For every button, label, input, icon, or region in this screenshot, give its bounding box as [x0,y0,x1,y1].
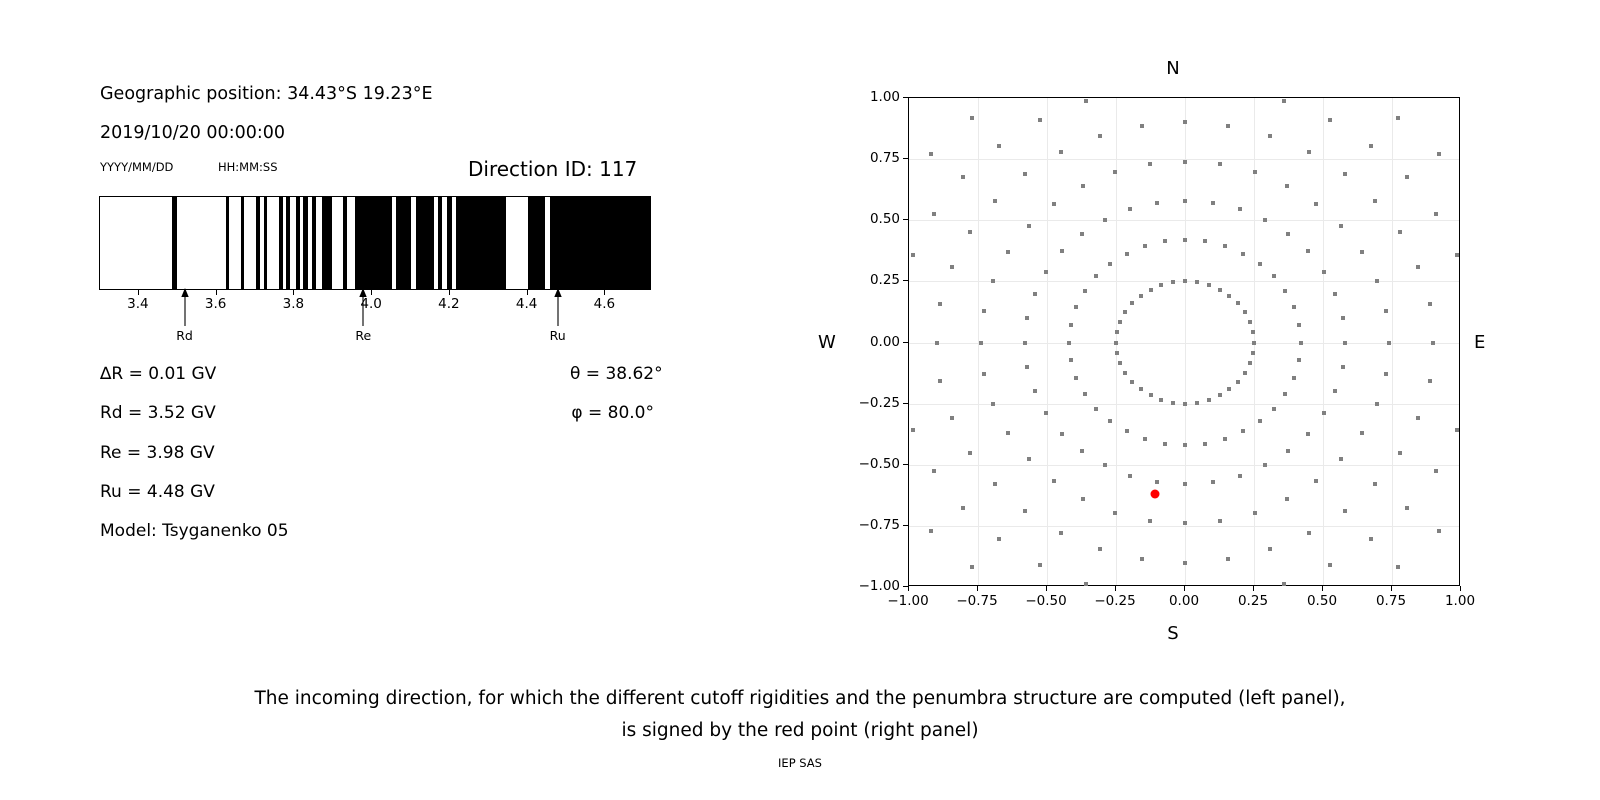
y-axis-tick [903,97,908,98]
direction-dot [1333,389,1337,393]
x-axis-tick-label: 4.2 [438,296,459,312]
x-axis-tick-label: −0.25 [1094,593,1135,609]
direction-dot [1080,449,1084,453]
x-axis-tick [371,290,372,295]
penumbra-band [303,197,307,289]
x-axis-tick-label: −0.50 [1025,593,1066,609]
x-axis-tick [977,586,978,591]
parameter-list-left: ∆R = 0.01 GVRd = 3.52 GVRe = 3.98 GVRu =… [100,355,289,551]
direction-dot [1434,212,1438,216]
direction-dot [1052,202,1056,206]
direction-dot [1341,365,1345,369]
direction-dot [1139,387,1143,391]
direction-dot [1038,563,1042,567]
direction-dot [1238,207,1242,211]
direction-dot [1268,547,1272,551]
direction-dot [1218,288,1222,292]
penumbra-band [312,197,316,289]
direction-dot [1125,429,1129,433]
direction-dot [1360,431,1364,435]
direction-dot [1118,320,1122,324]
direction-dot [1343,341,1347,345]
direction-dot [1103,218,1107,222]
direction-dot [1038,118,1042,122]
figure-caption: The incoming direction, for which the di… [0,683,1600,747]
direction-dot [1396,116,1400,120]
direction-dot [938,379,942,383]
y-axis-tick [903,464,908,465]
direction-dot [1067,341,1071,345]
direction-dot [1384,309,1388,313]
direction-dot [1084,99,1088,103]
parameter-list-right: θ = 38.62°φ = 80.0° [570,355,654,434]
penumbra-band [416,197,434,289]
direction-dot [1384,372,1388,376]
direction-dot [1416,416,1420,420]
direction-dot [1226,124,1230,128]
rigidity-marker-arrow-re [358,286,369,326]
direction-dot [1143,244,1147,248]
direction-dot [1083,289,1087,293]
direction-dot [1405,506,1409,510]
direction-dot [1416,265,1420,269]
selected-direction-point[interactable] [1150,490,1159,499]
x-axis-tick-label: −0.75 [956,593,997,609]
penumbra-band [355,197,391,289]
right-panel: −1.00−0.75−0.50−0.250.000.250.500.751.00… [790,0,1600,660]
direction-dot [929,152,933,156]
penumbra-band [550,197,651,289]
caption-line-1: The incoming direction, for which the di… [0,683,1600,715]
direction-dot [1341,316,1345,320]
direction-dot [911,428,915,432]
direction-dot [1272,274,1276,278]
x-axis-tick [1253,586,1254,591]
direction-dot [1369,537,1373,541]
rigidity-marker-arrow-ru [552,286,563,326]
direction-dot [1207,398,1211,402]
direction-dot [968,230,972,234]
x-axis-tick [1460,586,1461,591]
direction-dot [1297,358,1301,362]
y-axis-tick-label: −0.75 [838,517,900,533]
direction-dot [1149,393,1153,397]
direction-dot [1128,474,1132,478]
direction-dot [1428,302,1432,306]
x-axis-tick-label: −1.00 [887,593,928,609]
penumbra-band [438,197,442,289]
direction-dot [1369,144,1373,148]
direction-dot [1292,305,1296,309]
direction-dot [1183,402,1187,406]
penumbra-band [396,197,411,289]
penumbra-band [264,197,267,289]
direction-dot [1033,389,1037,393]
direction-dot [1398,451,1402,455]
x-axis-tick-label: 0.50 [1307,593,1337,609]
direction-dot [1183,443,1187,447]
direction-dot [1183,561,1187,565]
direction-dot [1155,201,1159,205]
direction-dot [1328,118,1332,122]
x-axis-tick [293,290,294,295]
direction-dot [1286,232,1290,236]
compass-east-label: E [1474,332,1485,353]
x-axis-tick-label: 0.25 [1238,593,1268,609]
compass-south-label: S [1167,623,1178,644]
direction-dot [1343,172,1347,176]
direction-dot [1223,244,1227,248]
param-row: Re = 3.98 GV [100,434,289,473]
direction-dot [1027,457,1031,461]
direction-dot [1285,184,1289,188]
x-axis-tick-label: 3.4 [127,296,148,312]
direction-id-label: Direction ID: 117 [468,157,637,181]
direction-dot [1339,457,1343,461]
direction-dot [1159,283,1163,287]
left-panel: Geographic position: 34.43°S 19.23°E 201… [0,0,760,660]
x-axis-tick-label: 4.4 [516,296,537,312]
penumbra-band [226,197,229,289]
time-format-label: HH:MM:SS [218,160,278,174]
direction-dot [1074,376,1078,380]
x-axis-tick [1115,586,1116,591]
direction-dot [1108,419,1112,423]
param-row: φ = 80.0° [570,394,654,433]
direction-dot [1195,401,1199,405]
direction-dot [1251,351,1255,355]
y-axis-tick-label: 0.50 [838,211,900,227]
direction-dot [1437,152,1441,156]
rigidity-marker-label: Re [355,328,371,343]
direction-dot [1307,150,1311,154]
direction-dot [1306,432,1310,436]
direction-dot [1155,480,1159,484]
direction-dot [1118,361,1122,365]
direction-dot [1183,120,1187,124]
direction-dot [1253,170,1257,174]
direction-dot [1195,280,1199,284]
direction-dot [1238,474,1242,478]
y-axis-tick-label: 0.75 [838,150,900,166]
direction-dot [1094,274,1098,278]
direction-dot [1282,99,1286,103]
x-axis-tick [1046,586,1047,591]
direction-dot [1339,224,1343,228]
direction-dot [961,175,965,179]
direction-dot [1149,288,1153,292]
gridline-horizontal [909,465,1459,466]
x-axis-tick [138,290,139,295]
footer-credit: IEP SAS [0,756,1600,770]
direction-dot [1059,531,1063,535]
direction-dot [1171,401,1175,405]
x-axis-tick [1391,586,1392,591]
direction-dot [979,341,983,345]
direction-dot [1069,358,1073,362]
direction-dot [1283,392,1287,396]
x-axis-tick-label: 0.00 [1169,593,1199,609]
gridline-horizontal [909,526,1459,527]
direction-dot [1282,582,1286,586]
y-axis-tick [903,280,908,281]
y-axis-tick-label: 0.00 [838,334,900,350]
x-axis-tick [1322,586,1323,591]
direction-dot [1094,407,1098,411]
direction-dot [1128,207,1132,211]
direction-dot [1113,511,1117,515]
direction-dot [1236,301,1240,305]
x-axis-tick [908,586,909,591]
rigidity-marker-arrow-rd [179,286,190,326]
direction-dot [1148,162,1152,166]
direction-dot [1286,449,1290,453]
direction-dot [1207,283,1211,287]
y-axis-tick-label: 0.25 [838,272,900,288]
direction-dot [1023,509,1027,513]
direction-dot [1236,380,1240,384]
direction-dot [1140,557,1144,561]
sky-map-plot-area [908,97,1460,586]
direction-dot [1268,134,1272,138]
direction-dot [1125,252,1129,256]
penumbra-band [286,197,290,289]
direction-dot [1375,402,1379,406]
direction-dot [1163,239,1167,243]
direction-dot [1218,162,1222,166]
direction-dot [1437,529,1441,533]
direction-dot [1292,376,1296,380]
penumbra-band [322,197,333,289]
direction-dot [1183,279,1187,283]
direction-dot [997,144,1001,148]
penumbra-band [241,197,244,289]
y-axis-tick-label: 1.00 [838,89,900,105]
direction-dot [997,537,1001,541]
direction-dot [1258,262,1262,266]
direction-dot [961,506,965,510]
y-axis-tick-label: −1.00 [838,578,900,594]
direction-dot [1226,557,1230,561]
penumbra-band [528,197,545,289]
x-axis-tick-label: 3.8 [283,296,304,312]
penumbra-band [296,197,299,289]
direction-dot [993,199,997,203]
direction-dot [1033,292,1037,296]
datetime-text: 2019/10/20 00:00:00 [100,123,285,143]
direction-dot [1025,316,1029,320]
direction-dot [1455,428,1459,432]
direction-dot [1006,431,1010,435]
direction-dot [1069,323,1073,327]
direction-dot [1081,184,1085,188]
direction-dot [1171,280,1175,284]
direction-dot [1130,380,1134,384]
direction-dot [1258,419,1262,423]
direction-dot [1140,124,1144,128]
direction-dot [1060,432,1064,436]
direction-dot [1248,320,1252,324]
penumbra-chart [99,196,651,290]
direction-dot [1223,437,1227,441]
x-axis-tick [1184,586,1185,591]
direction-dot [968,451,972,455]
x-axis-tick [527,290,528,295]
direction-dot [1241,252,1245,256]
direction-dot [1243,310,1247,314]
direction-dot [950,265,954,269]
direction-dot [1183,482,1187,486]
penumbra-x-axis: 3.43.63.84.04.24.44.6RdReRu [99,290,651,350]
direction-dot [970,565,974,569]
direction-dot [1074,305,1078,309]
direction-dot [1148,519,1152,523]
direction-dot [1243,371,1247,375]
direction-dot [1084,582,1088,586]
direction-dot [1285,497,1289,501]
rigidity-marker-label: Ru [550,328,566,343]
direction-dot [1314,202,1318,206]
direction-dot [1211,201,1215,205]
direction-dot [932,212,936,216]
direction-dot [1343,509,1347,513]
direction-dot [1163,442,1167,446]
y-axis-tick-label: −0.50 [838,456,900,472]
y-axis-tick [903,219,908,220]
direction-dot [1218,393,1222,397]
direction-dot [1052,479,1056,483]
gridline-vertical [1323,98,1324,585]
direction-dot [1103,463,1107,467]
direction-dot [1006,250,1010,254]
direction-dot [991,402,995,406]
direction-dot [1123,371,1127,375]
direction-dot [1251,330,1255,334]
compass-north-label: N [1166,58,1179,79]
direction-dot [991,279,995,283]
y-axis-tick [903,525,908,526]
direction-dot [1373,199,1377,203]
direction-dot [1113,170,1117,174]
direction-dot [1428,379,1432,383]
direction-dot [1159,398,1163,402]
direction-dot [1060,249,1064,253]
direction-dot [1203,442,1207,446]
direction-dot [970,116,974,120]
direction-dot [1115,330,1119,334]
direction-dot [1398,230,1402,234]
x-axis-tick [604,290,605,295]
x-axis-tick [216,290,217,295]
direction-dot [1328,563,1332,567]
compass-west-label: W [818,332,836,353]
direction-dot [1115,351,1119,355]
direction-dot [1227,294,1231,298]
y-axis-tick-label: −0.25 [838,395,900,411]
direction-dot [1373,482,1377,486]
rigidity-marker-label: Rd [176,328,193,343]
direction-dot [1333,292,1337,296]
gridline-horizontal [909,343,1459,344]
direction-dot [1114,341,1118,345]
direction-dot [1306,249,1310,253]
direction-dot [1314,479,1318,483]
direction-dot [1023,172,1027,176]
param-row: Rd = 3.52 GV [100,394,289,433]
direction-dot [1434,469,1438,473]
direction-dot [1405,175,1409,179]
direction-dot [1322,270,1326,274]
direction-dot [1263,463,1267,467]
direction-dot [1083,392,1087,396]
x-axis-tick-label: 0.75 [1376,593,1406,609]
direction-dot [1375,279,1379,283]
date-format-label: YYYY/MM/DD [100,160,173,174]
direction-dot [1248,361,1252,365]
direction-dot [1297,323,1301,327]
direction-dot [1252,341,1256,345]
geographic-position-text: Geographic position: 34.43°S 19.23°E [100,84,433,104]
direction-dot [1203,239,1207,243]
direction-dot [1059,150,1063,154]
direction-dot [1183,160,1187,164]
penumbra-band [279,197,282,289]
direction-dot [1139,294,1143,298]
y-axis-tick [903,342,908,343]
penumbra-band [256,197,260,289]
direction-dot [1307,531,1311,535]
x-axis-tick-label: 1.00 [1445,593,1475,609]
gridline-vertical [1185,98,1186,585]
gridline-horizontal [909,220,1459,221]
param-row: Model: Tsyganenko 05 [100,512,289,551]
direction-dot [993,482,997,486]
direction-dot [932,469,936,473]
direction-dot [1044,270,1048,274]
direction-dot [1272,407,1276,411]
direction-dot [982,309,986,313]
direction-dot [1183,238,1187,242]
direction-dot [1143,437,1147,441]
direction-dot [1023,341,1027,345]
x-axis-tick [449,290,450,295]
penumbra-band [343,197,347,289]
direction-dot [1431,341,1435,345]
direction-dot [1253,511,1257,515]
direction-dot [1183,199,1187,203]
direction-dot [1108,262,1112,266]
param-row: Ru = 4.48 GV [100,473,289,512]
direction-dot [911,253,915,257]
direction-dot [1130,301,1134,305]
gridline-vertical [1047,98,1048,585]
direction-dot [1263,218,1267,222]
y-axis-tick [903,403,908,404]
direction-dot [935,341,939,345]
direction-dot [1025,365,1029,369]
direction-dot [1322,411,1326,415]
direction-dot [1360,250,1364,254]
direction-dot [938,302,942,306]
direction-dot [1396,565,1400,569]
x-axis-tick-label: 3.6 [205,296,226,312]
direction-dot [1080,232,1084,236]
direction-dot [1123,310,1127,314]
direction-dot [982,372,986,376]
x-axis-tick-label: 4.6 [594,296,615,312]
direction-dot [1027,224,1031,228]
gridline-vertical [1392,98,1393,585]
